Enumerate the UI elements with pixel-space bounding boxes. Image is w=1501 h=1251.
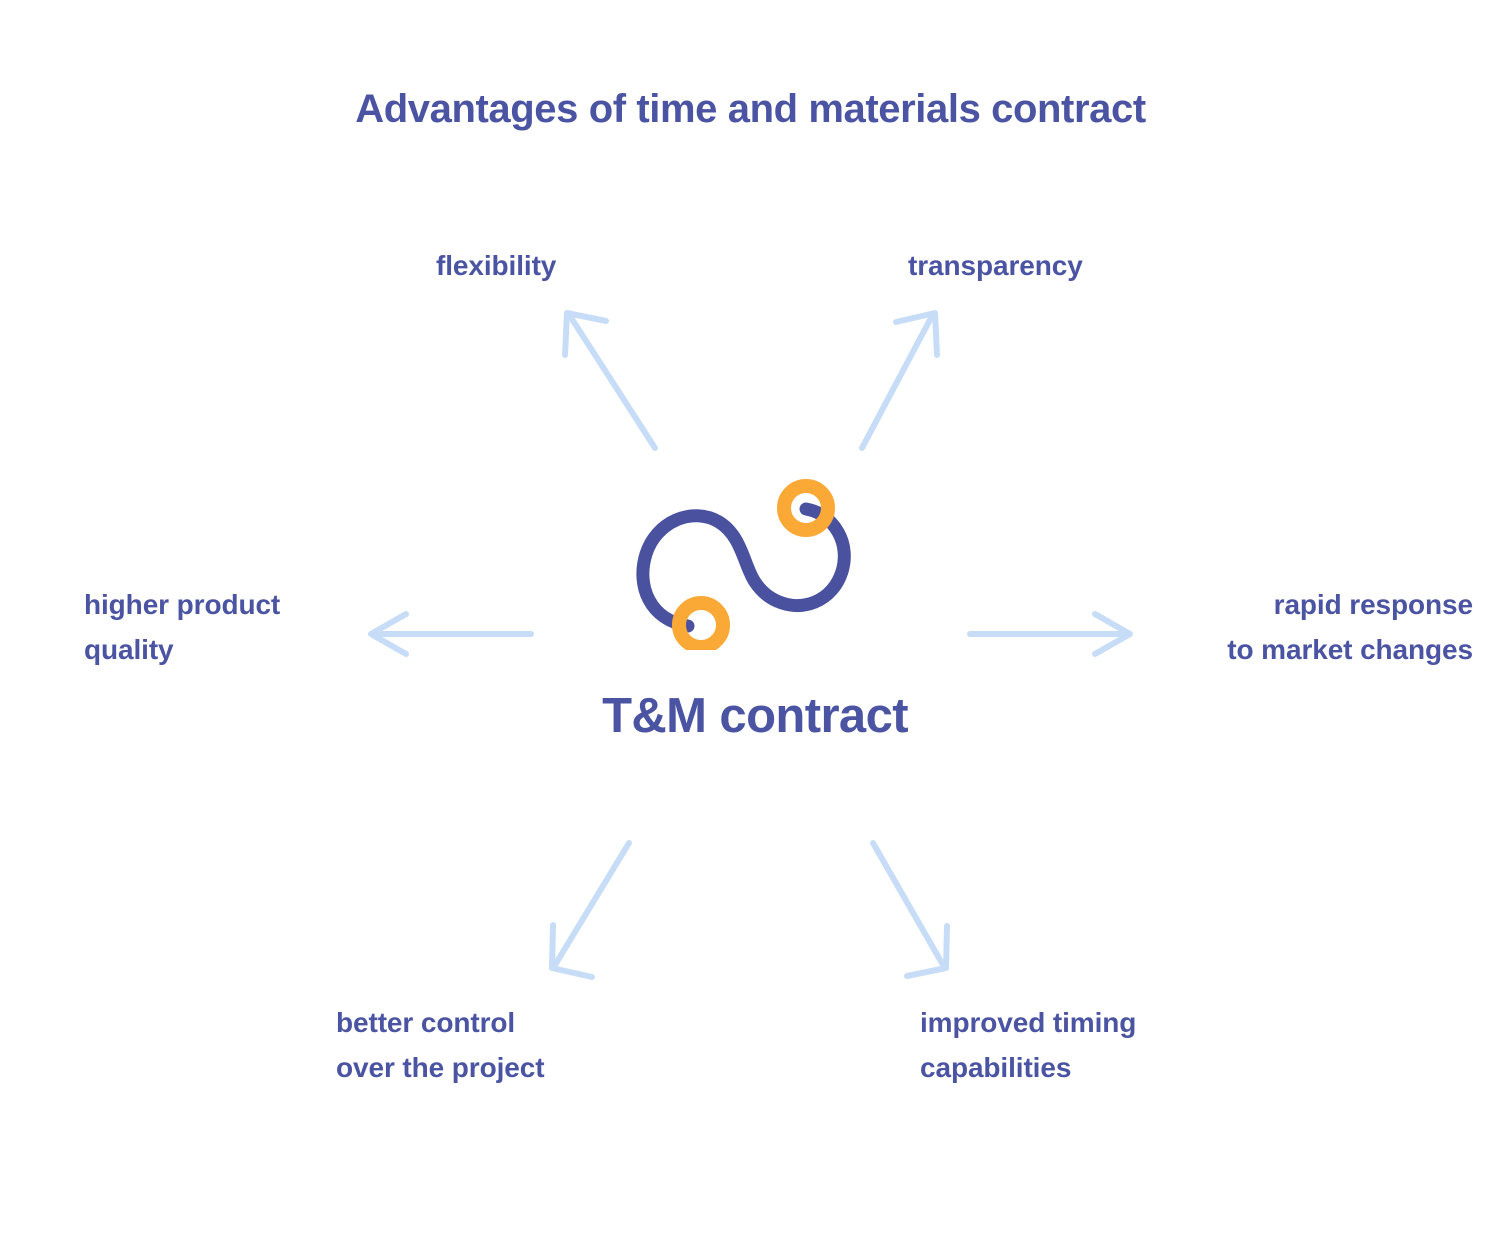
spoke-label-line: rapid response <box>1227 582 1473 627</box>
arrow-to-better-control <box>552 843 629 977</box>
spoke-label-line: better control <box>336 1000 544 1045</box>
arrow-to-transparency <box>862 313 937 448</box>
spoke-label-line: flexibility <box>436 243 556 288</box>
spoke-label-rapid-response-to-market-changes: rapid response to market changes <box>1227 582 1473 673</box>
spoke-label-line: quality <box>84 627 280 672</box>
arrow-to-improved-timing <box>873 843 947 976</box>
diagram-canvas: Advantages of time and materials contrac… <box>0 0 1501 1251</box>
spoke-label-line: transparency <box>908 243 1083 288</box>
spoke-label-flexibility: flexibility <box>436 243 556 288</box>
center-label: T&M contract <box>602 688 908 744</box>
spoke-label-line: improved timing <box>920 1000 1136 1045</box>
spoke-label-improved-timing-capabilities: improved timing capabilities <box>920 1000 1136 1091</box>
tm-logo-icon <box>630 478 880 650</box>
orange-ring-bottom-left <box>679 603 723 647</box>
spoke-label-transparency: transparency <box>908 243 1083 288</box>
center-hub: T&M contract <box>550 478 960 778</box>
arrow-to-higher-product-quality <box>371 614 531 654</box>
arrow-to-flexibility <box>565 313 655 448</box>
spoke-label-line: capabilities <box>920 1045 1136 1090</box>
arrow-to-rapid-response <box>970 614 1130 654</box>
page-title: Advantages of time and materials contrac… <box>0 85 1501 133</box>
spoke-label-better-control-over-the-project: better control over the project <box>336 1000 544 1091</box>
spoke-label-line: over the project <box>336 1045 544 1090</box>
spoke-label-line: higher product <box>84 582 280 627</box>
spoke-label-higher-product-quality: higher product quality <box>84 582 280 673</box>
spoke-label-line: to market changes <box>1227 627 1473 672</box>
